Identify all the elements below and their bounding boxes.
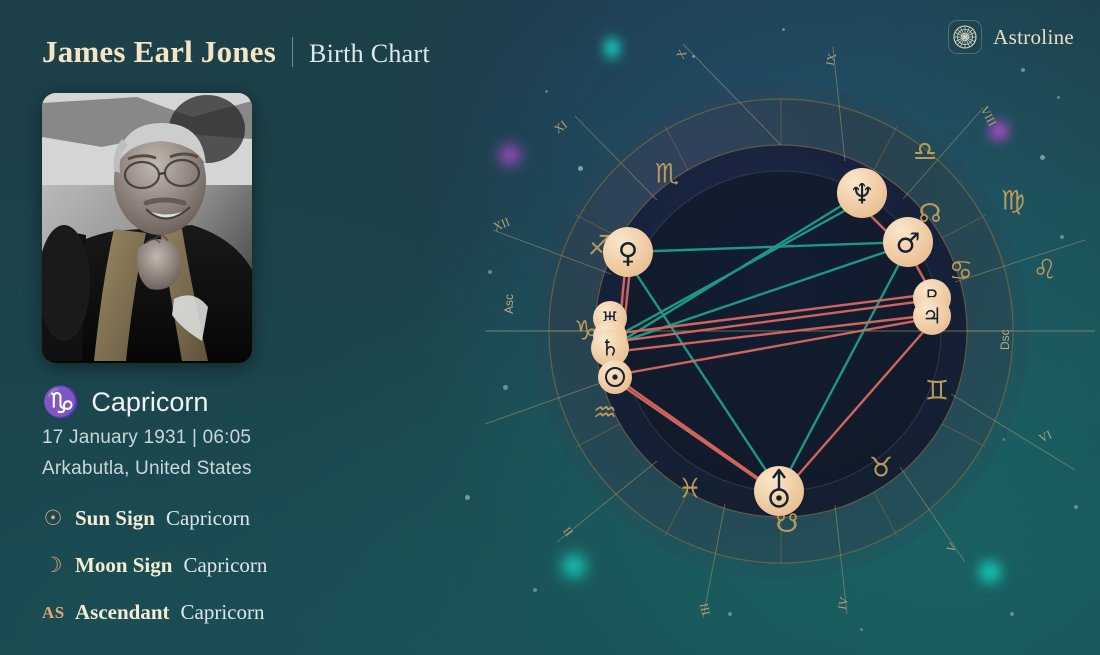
planet-jupiter[interactable]: ♃ xyxy=(913,297,951,335)
birth-chart-wheel[interactable]: ♎ ♍ ♌ ♋ ♊ ♉ ♈ ♓ ♒ ♑ ♐ ♏ ♋ xyxy=(485,42,1095,627)
sun-sign-value: Capricorn xyxy=(166,506,250,531)
house-numeral-xi: XI xyxy=(551,117,570,136)
house-numeral-vi: VI xyxy=(1036,427,1054,445)
planet-neptune[interactable]: ♆ xyxy=(837,168,887,218)
zodiac-glyph-virgo: ♍ xyxy=(1001,186,1025,217)
planet-chiron[interactable] xyxy=(754,466,804,516)
portrait-image xyxy=(42,93,252,363)
ascendant-value: Capricorn xyxy=(181,600,265,625)
sun-sign-headline: ♑ Capricorn xyxy=(42,387,462,418)
sun-icon: ☉ xyxy=(42,508,64,529)
sun-sign-label: Sun Sign xyxy=(75,506,155,531)
page-title: James Earl Jones xyxy=(42,34,276,70)
zodiac-glyph-leo: ♌ xyxy=(1033,255,1057,286)
ascendant-axis-label: Asc xyxy=(502,294,516,314)
house-numeral-xii: XII xyxy=(491,215,512,234)
sign-row-sun: ☉ Sun Sign Capricorn xyxy=(42,506,462,531)
zodiac-glyph-pisces: ♓ xyxy=(678,474,702,505)
venus-icon: ♀ xyxy=(618,237,639,270)
house-numeral-iii: III xyxy=(697,602,713,617)
moon-icon: ☽ xyxy=(42,555,64,576)
birth-place: Arkabutla, United States xyxy=(42,458,462,480)
title-divider xyxy=(292,37,293,67)
zodiac-glyph-libra: ♎ xyxy=(913,137,937,168)
zodiac-glyph-cancer-2: ♋ xyxy=(949,256,973,287)
capricorn-icon: ♑ xyxy=(42,388,79,418)
zodiac-glyph-scorpio: ♏ xyxy=(655,159,679,190)
sign-summary-list: ☉ Sun Sign Capricorn ☽ Moon Sign Caprico… xyxy=(42,506,462,625)
sign-row-moon: ☽ Moon Sign Capricorn xyxy=(42,553,462,578)
neptune-icon: ♆ xyxy=(849,178,874,211)
planet-venus[interactable]: ♀ xyxy=(603,227,653,277)
mars-icon: ♂ xyxy=(895,227,920,260)
star xyxy=(465,495,470,500)
ascendant-icon: AS xyxy=(42,604,64,621)
moon-sign-label: Moon Sign xyxy=(75,553,172,578)
descendant-axis-label: Dsc xyxy=(998,329,1012,350)
planet-sun[interactable] xyxy=(598,360,632,394)
house-numeral-ix: IX xyxy=(823,52,839,67)
star xyxy=(782,28,785,31)
ascendant-label: Ascendant xyxy=(75,600,170,625)
sun-sign-name: Capricorn xyxy=(91,387,208,418)
moon-sign-value: Capricorn xyxy=(183,553,267,578)
title-row: James Earl Jones Birth Chart xyxy=(42,34,462,70)
sign-row-ascendant: AS Ascendant Capricorn xyxy=(42,600,462,625)
zodiac-glyph-gemini: ♊ xyxy=(925,376,949,407)
house-numeral-ii: II xyxy=(560,524,576,539)
star xyxy=(860,628,863,631)
zodiac-glyph-taurus: ♉ xyxy=(869,453,893,484)
portrait-photo xyxy=(42,93,252,363)
saturn-icon: ♄ xyxy=(600,337,620,362)
chart-kind-label: Birth Chart xyxy=(309,39,430,69)
house-numeral-viii: VIII xyxy=(978,104,1000,129)
planet-mars[interactable]: ♂ xyxy=(883,217,933,267)
birth-datetime: 17 January 1931 | 06:05 xyxy=(42,427,462,449)
zodiac-glyph-aquarius: ♒ xyxy=(593,398,617,429)
house-numeral-iv: IV xyxy=(835,596,851,611)
profile-panel: James Earl Jones Birth Chart xyxy=(42,34,462,625)
jupiter-icon: ♃ xyxy=(922,305,942,330)
